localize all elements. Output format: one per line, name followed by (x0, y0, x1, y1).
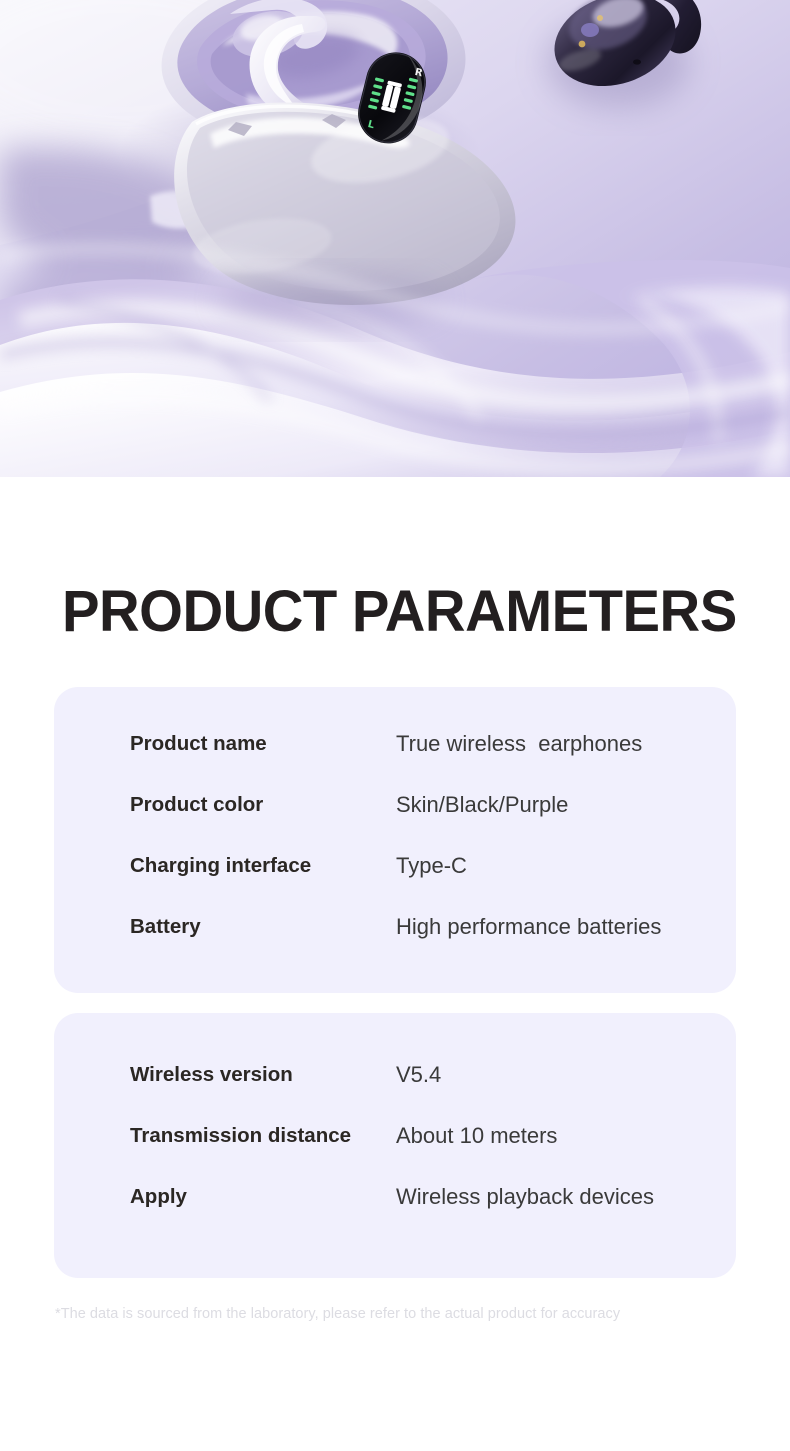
spec-value: Skin/Black/Purple (396, 791, 568, 819)
spec-label: Battery (130, 913, 396, 941)
table-row: Wireless version V5.4 (130, 1061, 736, 1122)
table-row: Product color Skin/Black/Purple (130, 791, 736, 852)
table-row: Apply Wireless playback devices (130, 1183, 736, 1244)
spec-label: Charging interface (130, 852, 396, 880)
spec-label: Transmission distance (130, 1122, 396, 1150)
page-title: PRODUCT PARAMETERS (62, 583, 737, 641)
spec-label: Wireless version (130, 1061, 396, 1089)
spec-value: V5.4 (396, 1061, 441, 1089)
spec-value: Wireless playback devices (396, 1183, 654, 1211)
spec-value: About 10 meters (396, 1122, 557, 1150)
spec-rows: Product name True wireless earphones Pro… (130, 730, 736, 974)
spec-value: Type-C (396, 852, 467, 880)
spec-card-connectivity: Wireless version V5.4 Transmission dista… (54, 1013, 736, 1278)
spec-value: True wireless earphones (396, 730, 642, 758)
hero-illustration: L R (0, 0, 790, 477)
spec-card-general: Product name True wireless earphones Pro… (54, 687, 736, 993)
spec-rows: Wireless version V5.4 Transmission dista… (130, 1061, 736, 1244)
spec-label: Product name (130, 730, 396, 758)
table-row: Product name True wireless earphones (130, 730, 736, 791)
disclaimer-footnote: *The data is sourced from the laboratory… (55, 1306, 620, 1322)
hero-product-image: L R (0, 0, 790, 477)
spec-label: Apply (130, 1183, 396, 1211)
table-row: Battery High performance batteries (130, 913, 736, 974)
spec-label: Product color (130, 791, 396, 819)
table-row: Transmission distance About 10 meters (130, 1122, 736, 1183)
spec-value: High performance batteries (396, 913, 661, 941)
table-row: Charging interface Type-C (130, 852, 736, 913)
